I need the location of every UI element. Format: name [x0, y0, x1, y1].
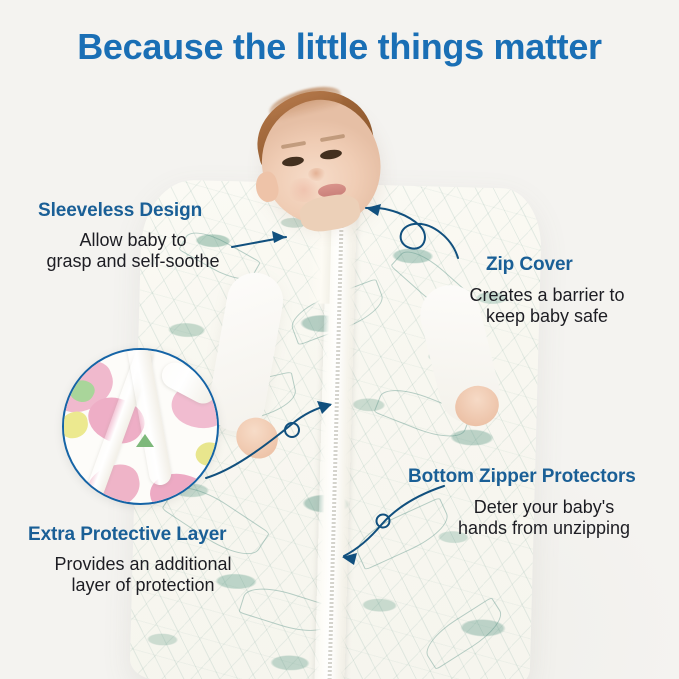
- callout-heading-zip-cover: Zip Cover: [486, 254, 573, 276]
- floral-leaf: [193, 439, 219, 470]
- callout-body-line: grasp and self-soothe: [18, 251, 248, 272]
- callout-heading-extra-layer: Extra Protective Layer: [28, 524, 226, 546]
- callout-body-line: Allow baby to: [18, 230, 248, 251]
- callout-body-bottom-zipper: Deter your baby's hands from unzipping: [420, 497, 668, 539]
- page-title: Because the little things matter: [0, 26, 679, 68]
- infographic-root: Because the little things matter: [0, 0, 679, 679]
- callout-body-line: Provides an additional: [18, 554, 268, 575]
- baby-nose: [308, 168, 326, 181]
- callout-body-line: layer of protection: [18, 575, 268, 596]
- callout-body-extra-layer: Provides an additional layer of protecti…: [18, 554, 268, 596]
- floral-leaf: [62, 410, 90, 440]
- callout-body-line: keep baby safe: [434, 306, 660, 327]
- callout-heading-sleeveless: Sleeveless Design: [38, 200, 202, 222]
- callout-body-line: hands from unzipping: [420, 518, 668, 539]
- callout-body-zip-cover: Creates a barrier to keep baby safe: [434, 285, 660, 327]
- callout-body-line: Creates a barrier to: [434, 285, 660, 306]
- zipper-detail-inset: [62, 348, 219, 505]
- callout-body-line: Deter your baby's: [420, 497, 668, 518]
- callout-heading-bottom-zipper: Bottom Zipper Protectors: [408, 466, 636, 488]
- zipper-protector-triangle-icon: [136, 434, 154, 447]
- callout-body-sleeveless: Allow baby to grasp and self-soothe: [18, 230, 248, 272]
